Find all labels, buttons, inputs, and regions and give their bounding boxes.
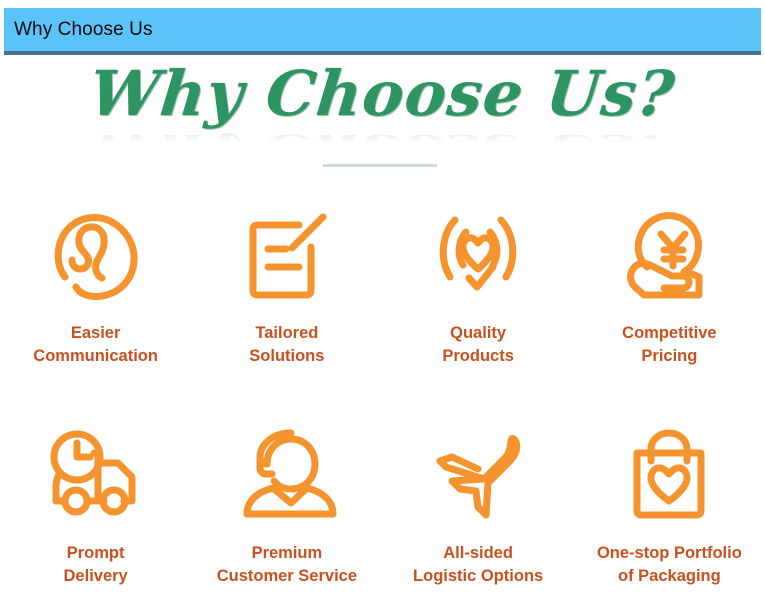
feature-caption: All-sided Logistic Options [413, 542, 543, 588]
feature-item-premium-customer-service[interactable]: Premium Customer Service [191, 416, 382, 599]
feature-caption-line1: Tailored [255, 324, 318, 342]
feature-item-quality-products[interactable]: Quality Products [383, 196, 574, 416]
window-titlebar-area: Why Choose Us [0, 8, 765, 55]
feature-caption-line2: Products [442, 345, 514, 368]
airplane-icon [426, 416, 530, 538]
feature-item-easier-communication[interactable]: Easier Communication [0, 196, 191, 416]
feature-caption-line1: Competitive [622, 324, 716, 342]
feature-item-one-stop-portfolio-of-packaging[interactable]: One-stop Portfolio of Packaging [574, 416, 765, 599]
feature-caption-line2: Pricing [622, 345, 716, 368]
feature-caption-line1: Quality [450, 324, 506, 342]
features-row-1: Easier Communication Tailored Solutions [0, 196, 765, 416]
hero-section: Why Choose Us? Why Choose Us? [0, 58, 765, 170]
feature-caption: Premium Customer Service [217, 542, 357, 588]
headset-agent-icon [233, 416, 341, 538]
hero-divider [323, 164, 437, 167]
features-grid: Easier Communication Tailored Solutions [0, 196, 765, 599]
window-title: Why Choose Us [4, 20, 153, 39]
hand-holding-yen-coin-icon [617, 196, 721, 318]
feature-caption: Prompt Delivery [64, 542, 128, 588]
feature-caption-line2: Communication [33, 345, 158, 368]
feature-caption-line2: Delivery [64, 565, 128, 588]
feature-caption: Competitive Pricing [622, 322, 716, 368]
feature-caption-line2: Customer Service [217, 565, 357, 588]
feature-caption: One-stop Portfolio of Packaging [597, 542, 742, 588]
feature-caption-line2: Solutions [249, 345, 324, 368]
features-row-2: Prompt Delivery Premium Customer Service [0, 416, 765, 599]
feature-caption-line1: Easier [71, 324, 121, 342]
feature-caption-line1: Premium [252, 544, 323, 562]
feature-caption-line2: of Packaging [597, 565, 742, 588]
window-titlebar: Why Choose Us [4, 8, 761, 55]
feature-caption-line1: One-stop Portfolio [597, 544, 742, 562]
feature-item-competitive-pricing[interactable]: Competitive Pricing [574, 196, 765, 416]
feature-caption-line2: Logistic Options [413, 565, 543, 588]
heart-signal-check-icon [426, 196, 530, 318]
document-pencil-icon [237, 196, 337, 318]
delivery-truck-clock-icon [42, 416, 150, 538]
feature-caption-line1: All-sided [443, 544, 513, 562]
feature-caption-line1: Prompt [67, 544, 125, 562]
page-title: Why Choose Us? [86, 58, 678, 130]
feature-caption: Tailored Solutions [249, 322, 324, 368]
feature-item-prompt-delivery[interactable]: Prompt Delivery [0, 416, 191, 599]
ear-in-circle-icon [50, 196, 142, 318]
shopping-bag-heart-icon [617, 416, 721, 538]
feature-item-all-sided-logistic-options[interactable]: All-sided Logistic Options [383, 416, 574, 599]
feature-caption: Quality Products [442, 322, 514, 368]
feature-caption: Easier Communication [33, 322, 158, 368]
feature-item-tailored-solutions[interactable]: Tailored Solutions [191, 196, 382, 416]
page-title-reflection: Why Choose Us? [0, 133, 765, 144]
